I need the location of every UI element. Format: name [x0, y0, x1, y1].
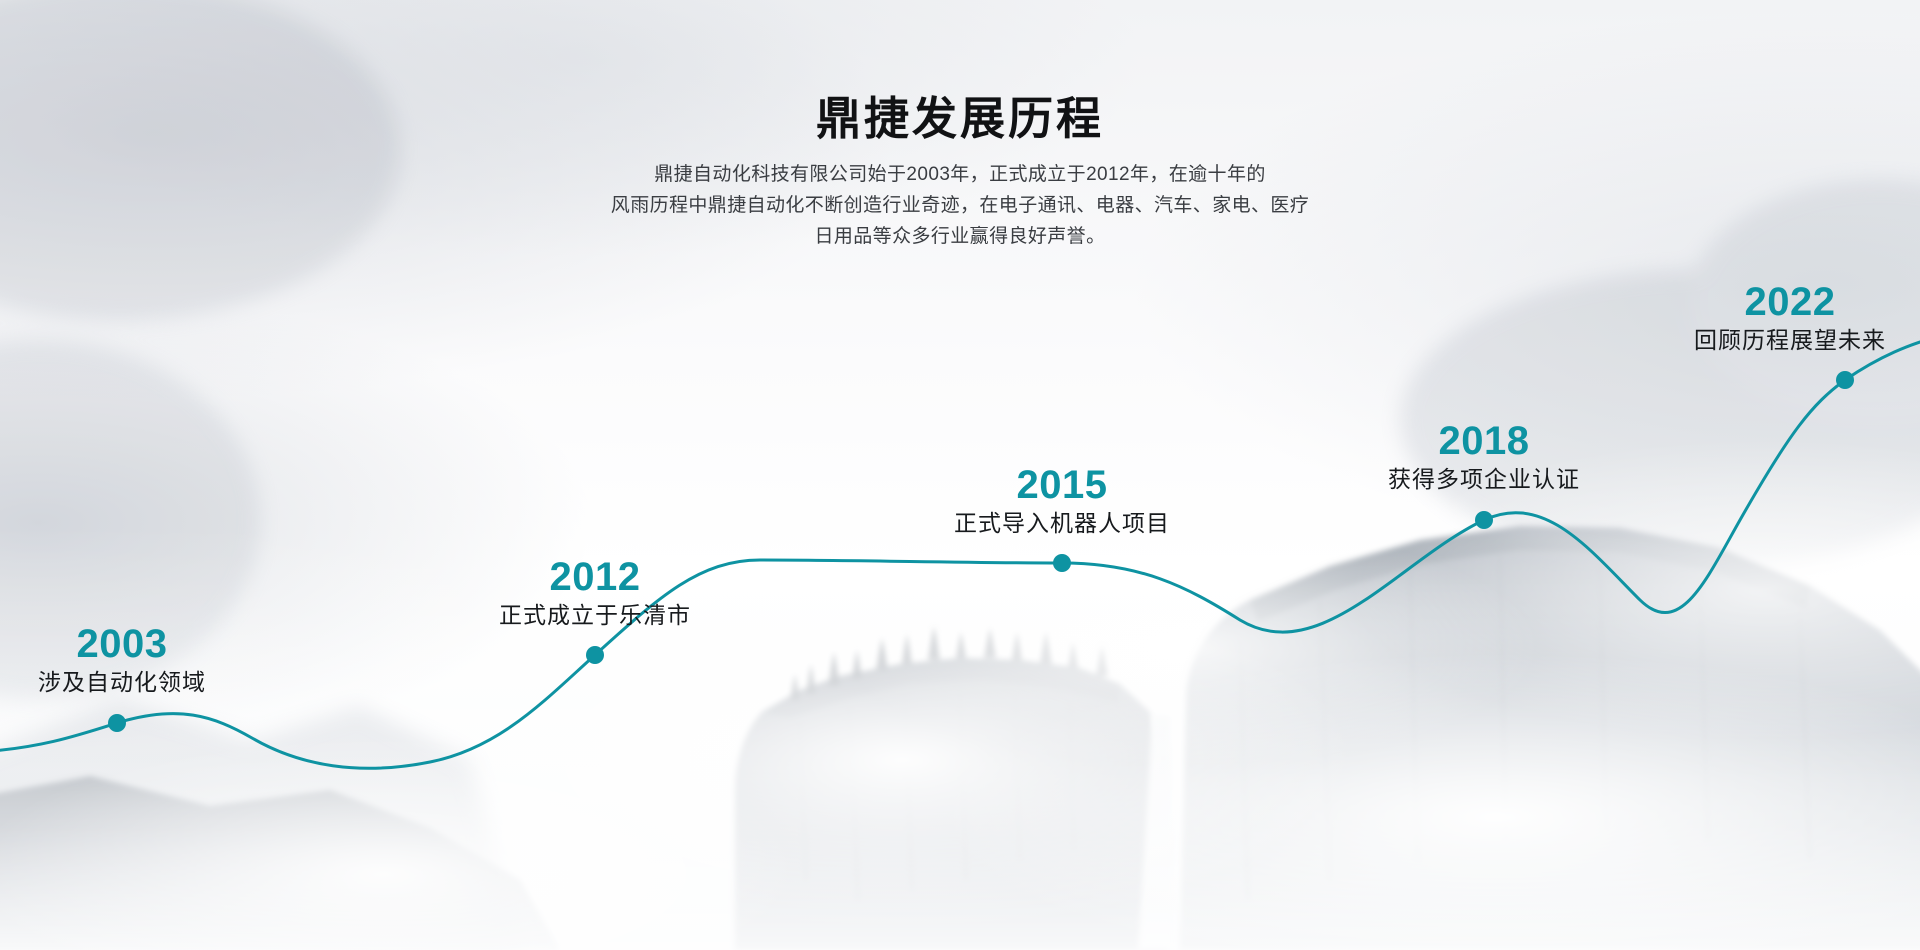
milestone-dot-2015[interactable] [1053, 554, 1071, 572]
milestone-dot-2022[interactable] [1836, 371, 1854, 389]
milestone-label-2003: 涉及自动化领域 [38, 668, 206, 698]
milestone-label-2015: 正式导入机器人项目 [954, 509, 1170, 539]
milestone-2022[interactable]: 2022回顾历程展望未来 [1694, 281, 1886, 356]
milestone-2015[interactable]: 2015正式导入机器人项目 [954, 464, 1170, 539]
milestone-2018[interactable]: 2018获得多项企业认证 [1388, 420, 1580, 495]
milestone-2003[interactable]: 2003涉及自动化领域 [38, 623, 206, 698]
milestone-year-2015: 2015 [954, 464, 1170, 507]
milestone-year-2018: 2018 [1388, 420, 1580, 463]
milestone-dot-2012[interactable] [586, 646, 604, 664]
milestone-year-2022: 2022 [1694, 281, 1886, 324]
milestone-dot-2018[interactable] [1475, 511, 1493, 529]
milestone-label-2018: 获得多项企业认证 [1388, 465, 1580, 495]
milestone-2012[interactable]: 2012正式成立于乐清市 [499, 556, 691, 631]
timeline-infographic: 鼎捷发展历程 鼎捷自动化科技有限公司始于2003年，正式成立于2012年，在逾十… [0, 0, 1920, 950]
milestone-year-2012: 2012 [499, 556, 691, 599]
milestone-year-2003: 2003 [38, 623, 206, 666]
milestone-label-2012: 正式成立于乐清市 [499, 601, 691, 631]
milestone-dot-2003[interactable] [108, 714, 126, 732]
timeline-path [0, 336, 1920, 768]
milestone-label-2022: 回顾历程展望未来 [1694, 326, 1886, 356]
